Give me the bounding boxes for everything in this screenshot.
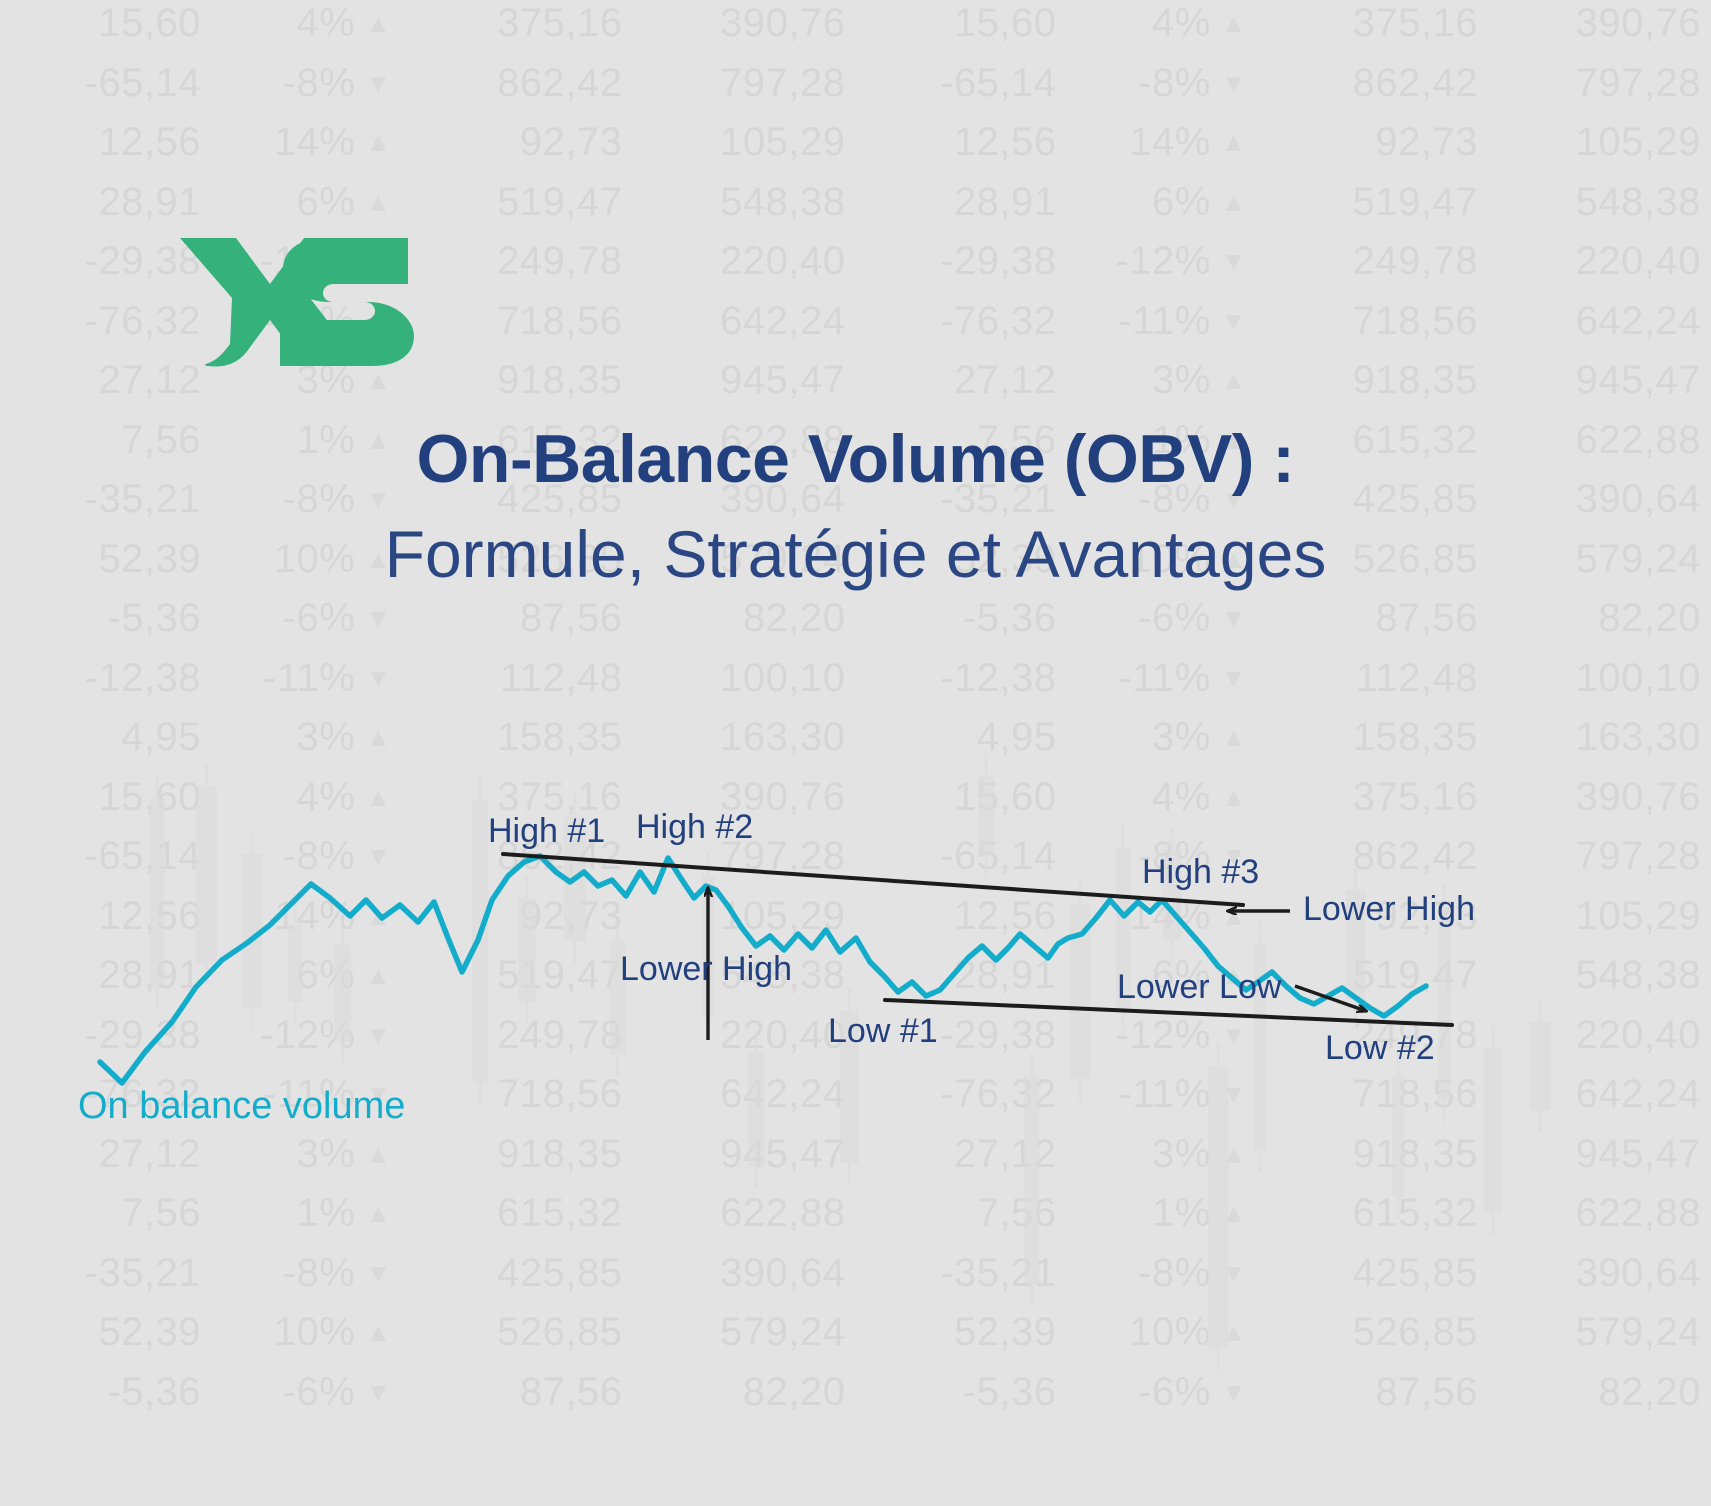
page-subtitle: Formule, Stratégie et Avantages (0, 516, 1711, 592)
annotation-high-1: High #1 (488, 812, 605, 851)
annotation-low-1: Low #1 (828, 1012, 938, 1051)
xs-logo (176, 232, 416, 377)
annotation-low-2: Low #2 (1325, 1029, 1435, 1068)
page-title: On-Balance Volume (OBV) : (0, 420, 1711, 498)
annotation-lower-low: Lower Low (1117, 968, 1281, 1007)
obv-chart (0, 0, 1711, 1506)
annotation-high-2: High #2 (636, 808, 753, 847)
xs-logo-icon (176, 232, 416, 372)
annotation-high-3: High #3 (1142, 853, 1259, 892)
annotation-lower-high-left: Lower High (620, 950, 792, 989)
poster-canvas: 15,604%▲375,16390,7615,604%▲375,16390,76… (0, 0, 1711, 1506)
annotation-lower-high-right: Lower High (1303, 890, 1475, 929)
obv-series-label: On balance volume (78, 1085, 405, 1128)
